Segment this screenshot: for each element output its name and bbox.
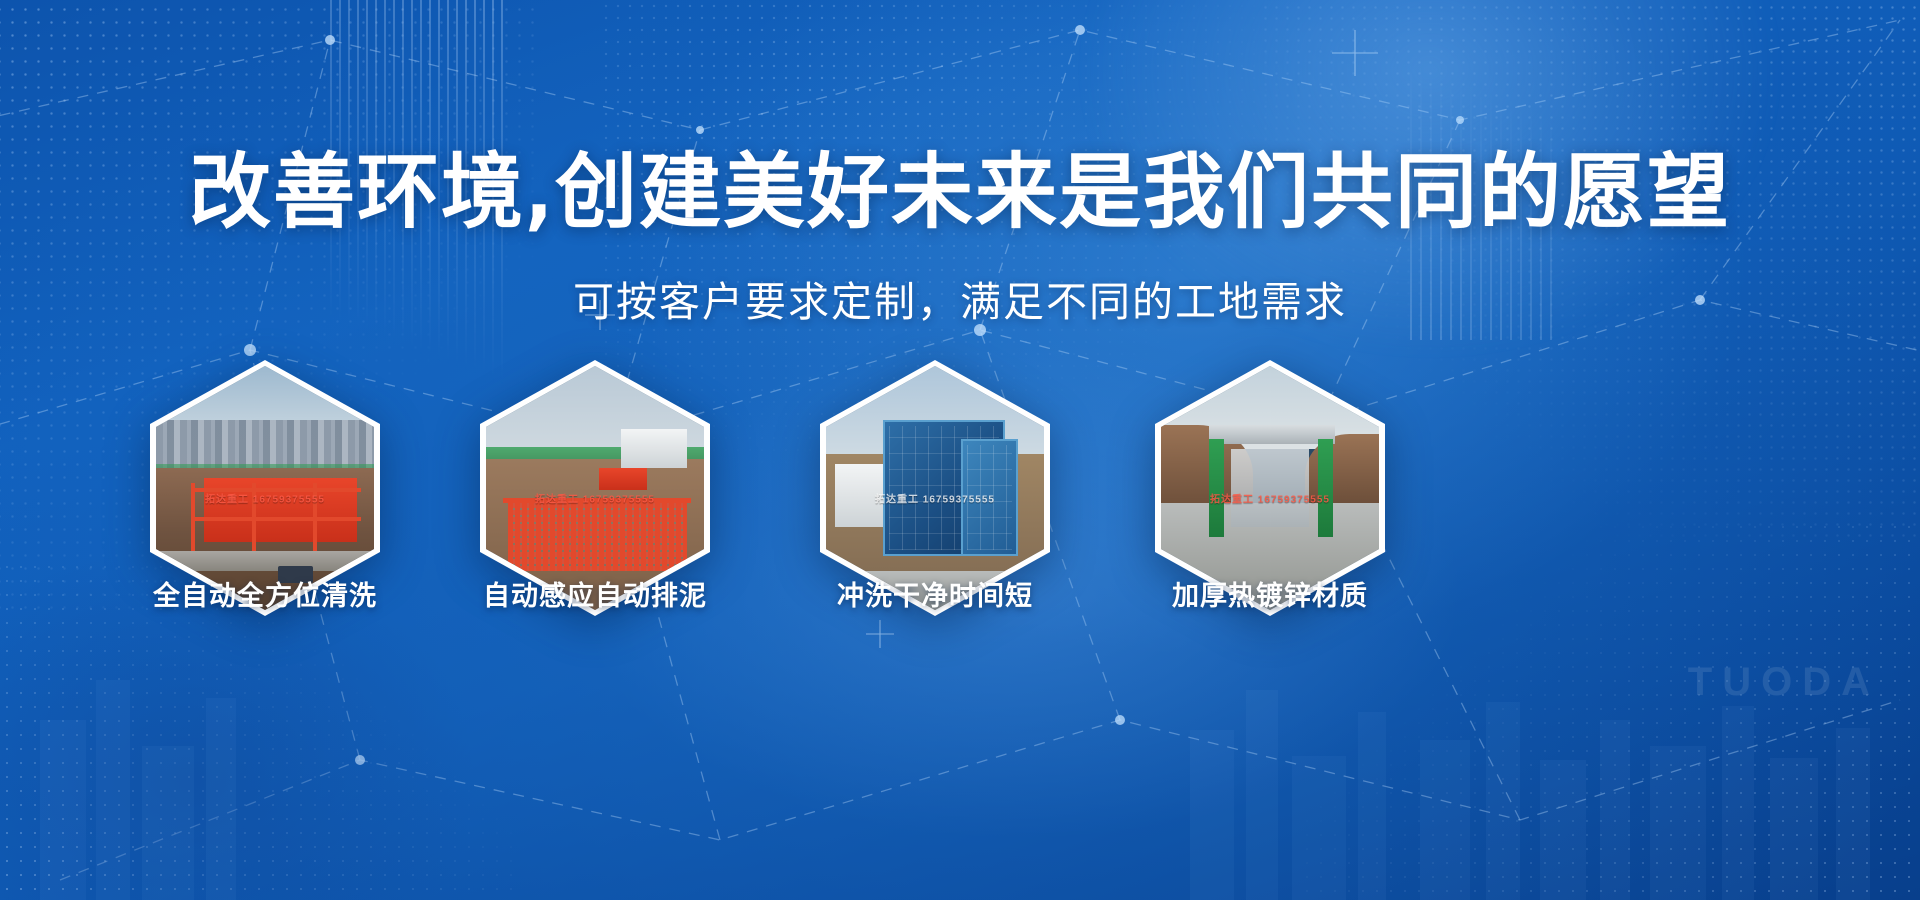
feature-caption-3: 冲洗干净时间短 [820,574,1050,613]
page-title: 改善环境,创建美好未来是我们共同的愿望 [0,152,1920,234]
ghost-watermark-text: TUODA [1688,660,1880,705]
page-subtitle: 可按客户要求定制，满足不同的工地需求 [0,268,1920,328]
feature-card-list: 拓达重工 16759375555 全自动全方位清洗 [0,360,1920,660]
feature-card-1[interactable]: 拓达重工 16759375555 全自动全方位清洗 [150,360,380,616]
feature-caption-4: 加厚热镀锌材质 [1155,574,1385,613]
photo-watermark-1: 拓达重工 16759375555 [205,490,325,505]
feature-card-4[interactable]: 拓达重工 16759375555 加厚热镀锌材质 [1155,360,1385,616]
feature-card-2[interactable]: 拓达重工 16759375555 自动感应自动排泥 [480,360,710,616]
photo-watermark-2: 拓达重工 16759375555 [535,490,655,505]
photo-watermark-4: 拓达重工 16759375555 [1210,490,1330,505]
promo-banner: TUODA 改善环境,创建美好未来是我们共同的愿望 可按客户要求定制，满足不同的… [0,0,1920,900]
photo-watermark-3: 拓达重工 16759375555 [875,490,995,505]
feature-caption-2: 自动感应自动排泥 [480,574,710,613]
feature-card-3[interactable]: 拓达重工 16759375555 冲洗干净时间短 [820,360,1050,616]
feature-caption-1: 全自动全方位清洗 [150,574,380,613]
